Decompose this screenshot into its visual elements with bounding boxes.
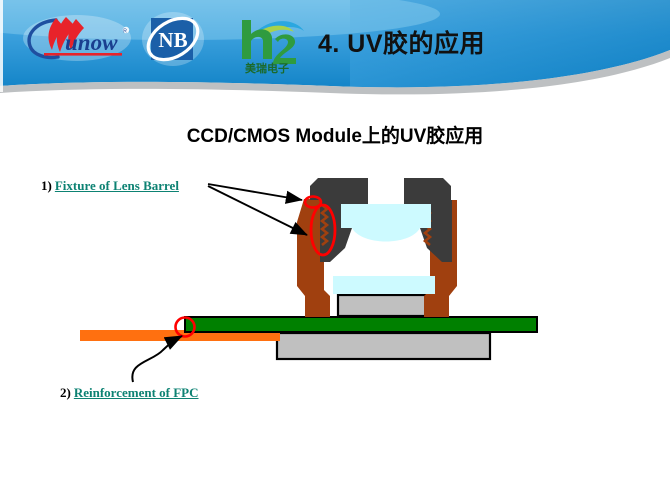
image-sensor xyxy=(338,295,428,316)
callout-2-text[interactable]: Reinforcement of FPC xyxy=(74,385,199,400)
callout-label-2[interactable]: 2)Reinforcement of FPC xyxy=(60,385,199,401)
lens-element-upper xyxy=(341,204,431,242)
connector-block xyxy=(277,333,490,359)
callout-2-number: 2) xyxy=(60,385,71,400)
callout-1-text[interactable]: Fixture of Lens Barrel xyxy=(55,178,179,193)
callout-1-number: 1) xyxy=(41,178,52,193)
slide-canvas: unow R NB xyxy=(0,0,670,502)
ccd-cmos-module-diagram xyxy=(0,0,670,502)
pcb-board xyxy=(185,317,537,332)
callout-arrow-2 xyxy=(132,336,182,382)
callout-label-1[interactable]: 1)Fixture of Lens Barrel xyxy=(41,178,179,194)
lens-element-lower xyxy=(333,276,435,294)
